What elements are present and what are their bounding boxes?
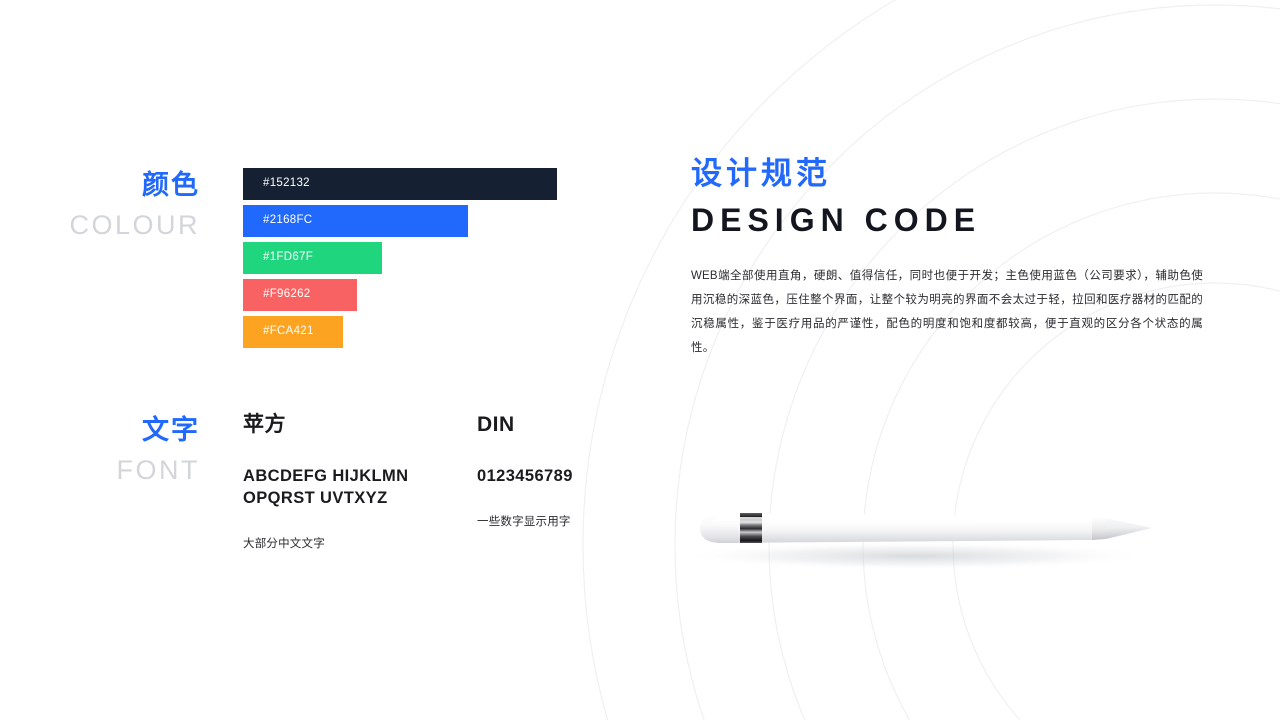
section-label-colour-en: COLOUR	[0, 212, 200, 239]
color-swatch[interactable]: #FCA421	[243, 316, 343, 348]
color-swatch-hex: #FCA421	[243, 326, 314, 338]
font-sample-glyphs: 0123456789	[477, 465, 573, 487]
section-label-colour-cn: 颜色	[0, 172, 200, 199]
color-swatch[interactable]: #2168FC	[243, 205, 468, 237]
font-specimen-din: DIN 0123456789 一些数字显示用字	[477, 414, 573, 529]
font-sample-glyphs: ABCDEFG HIJKLMN OPQRST UVTXYZ	[243, 465, 409, 509]
font-usage-caption: 大部分中文文字	[243, 539, 409, 551]
page-title-block: 设计规范 DESIGN CODE	[691, 158, 981, 236]
color-swatch[interactable]: #1FD67F	[243, 242, 382, 274]
color-swatch-hex: #1FD67F	[243, 252, 313, 264]
design-code-slide: 颜色 COLOUR #152132 #2168FC #1FD67F #F9626…	[0, 0, 1280, 720]
section-label-font-cn: 文字	[0, 417, 200, 444]
color-swatch[interactable]: #F96262	[243, 279, 357, 311]
body-paragraph: WEB端全部使用直角，硬朗、值得信任，同时也便于开发；主色使用蓝色（公司要求），…	[691, 264, 1203, 360]
apple-pencil-illustration	[660, 470, 1180, 600]
font-usage-caption: 一些数字显示用字	[477, 517, 573, 529]
font-specimen-chinese: 苹方 ABCDEFG HIJKLMN OPQRST UVTXYZ 大部分中文文字	[243, 414, 409, 551]
color-swatch-hex: #2168FC	[243, 215, 312, 227]
section-label-colour: 颜色 COLOUR	[0, 172, 200, 239]
page-title-cn: 设计规范	[691, 158, 981, 189]
decorative-arcs	[0, 0, 1280, 720]
section-label-font: 文字 FONT	[0, 417, 200, 484]
color-swatch[interactable]: #152132	[243, 168, 557, 200]
page-title-en: DESIGN CODE	[691, 204, 981, 236]
color-swatch-hex: #F96262	[243, 289, 311, 301]
color-swatch-hex: #152132	[243, 178, 310, 190]
color-swatch-list: #152132 #2168FC #1FD67F #F96262 #FCA421	[243, 168, 557, 353]
font-name: DIN	[477, 414, 573, 435]
font-name: 苹方	[243, 414, 409, 435]
section-label-font-en: FONT	[0, 457, 200, 484]
